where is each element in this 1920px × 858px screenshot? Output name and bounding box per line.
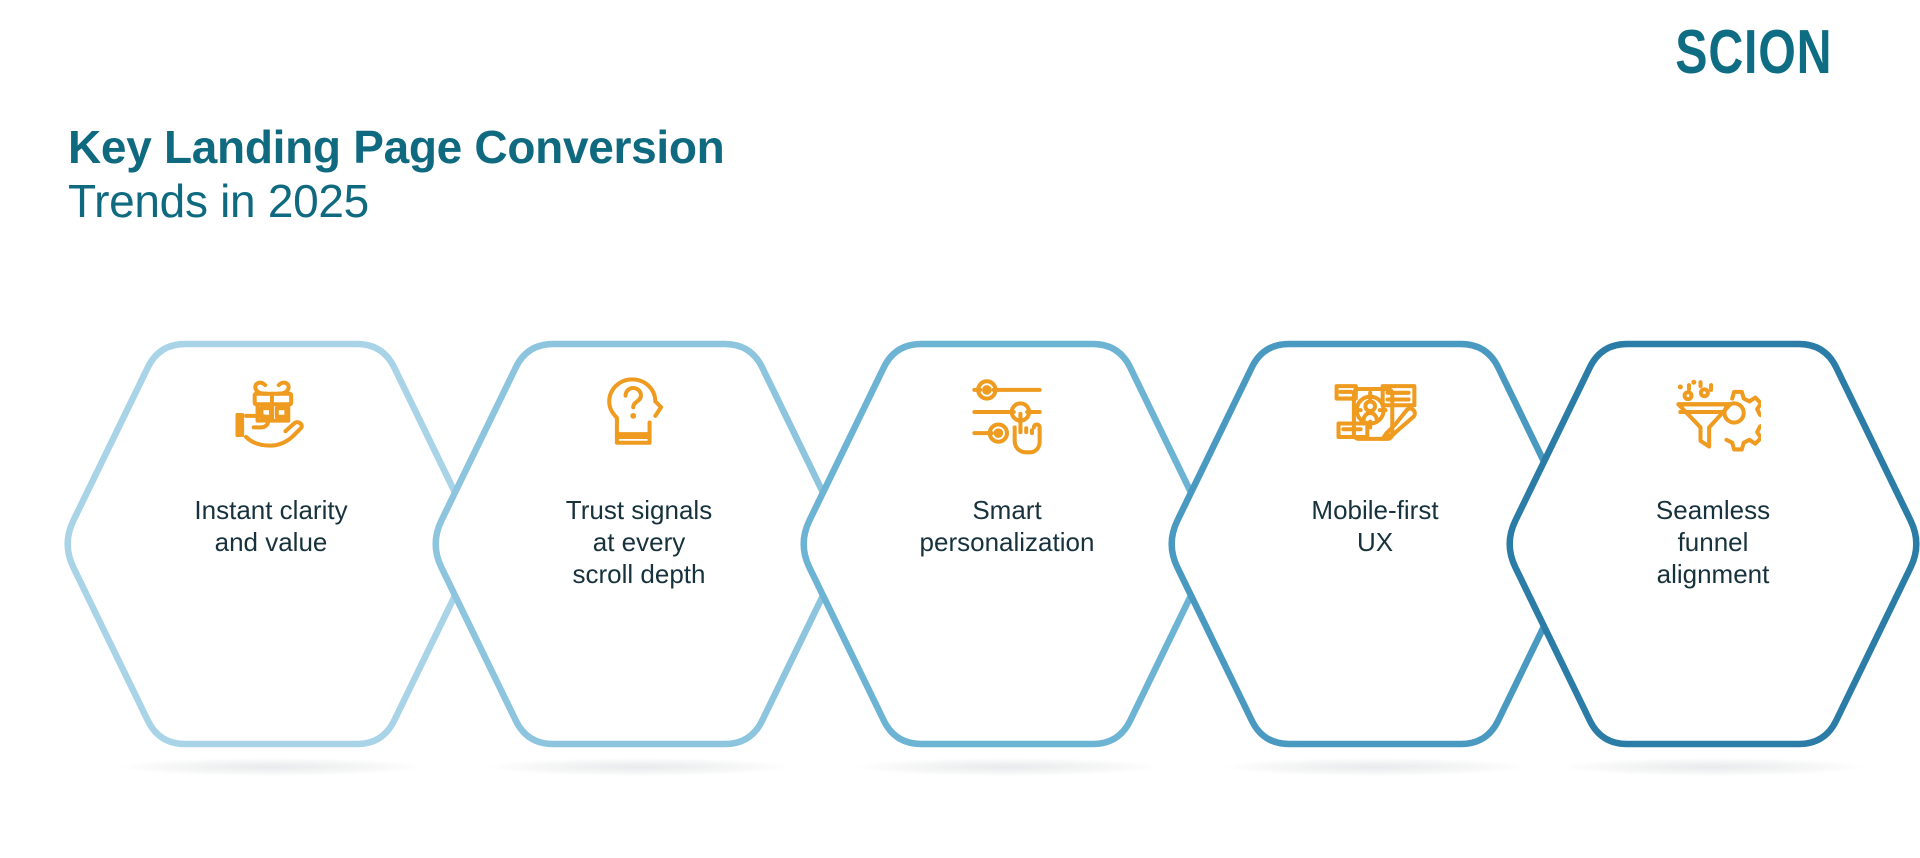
- hexagon-step-2[interactable]: Trust signals at every scroll depth: [424, 338, 854, 750]
- hexagon-shadow: [1225, 758, 1525, 776]
- hexagon-shadow: [121, 758, 421, 776]
- hexagon-outline: [424, 338, 854, 750]
- hexagon-step-row: Instant clarity and valueTrust signals a…: [0, 338, 1920, 758]
- hexagon-shadow: [857, 758, 1157, 776]
- hexagon-outline: [56, 338, 486, 750]
- hexagon-step-5[interactable]: Seamless funnel alignment: [1498, 338, 1920, 750]
- page-title: Key Landing Page Conversion Trends in 20…: [68, 120, 724, 229]
- hexagon-outline: [792, 338, 1222, 750]
- page-title-line-1: Key Landing Page Conversion: [68, 120, 724, 174]
- hexagon-step-1[interactable]: Instant clarity and value: [56, 338, 486, 750]
- hexagon-step-3[interactable]: Smart personalization: [792, 338, 1222, 750]
- scion-logo: SCION: [1675, 22, 1832, 84]
- hexagon-shadow: [1563, 758, 1863, 776]
- page-title-line-2: Trends in 2025: [68, 174, 724, 228]
- hexagon-shadow: [489, 758, 789, 776]
- hexagon-outline: [1498, 338, 1920, 750]
